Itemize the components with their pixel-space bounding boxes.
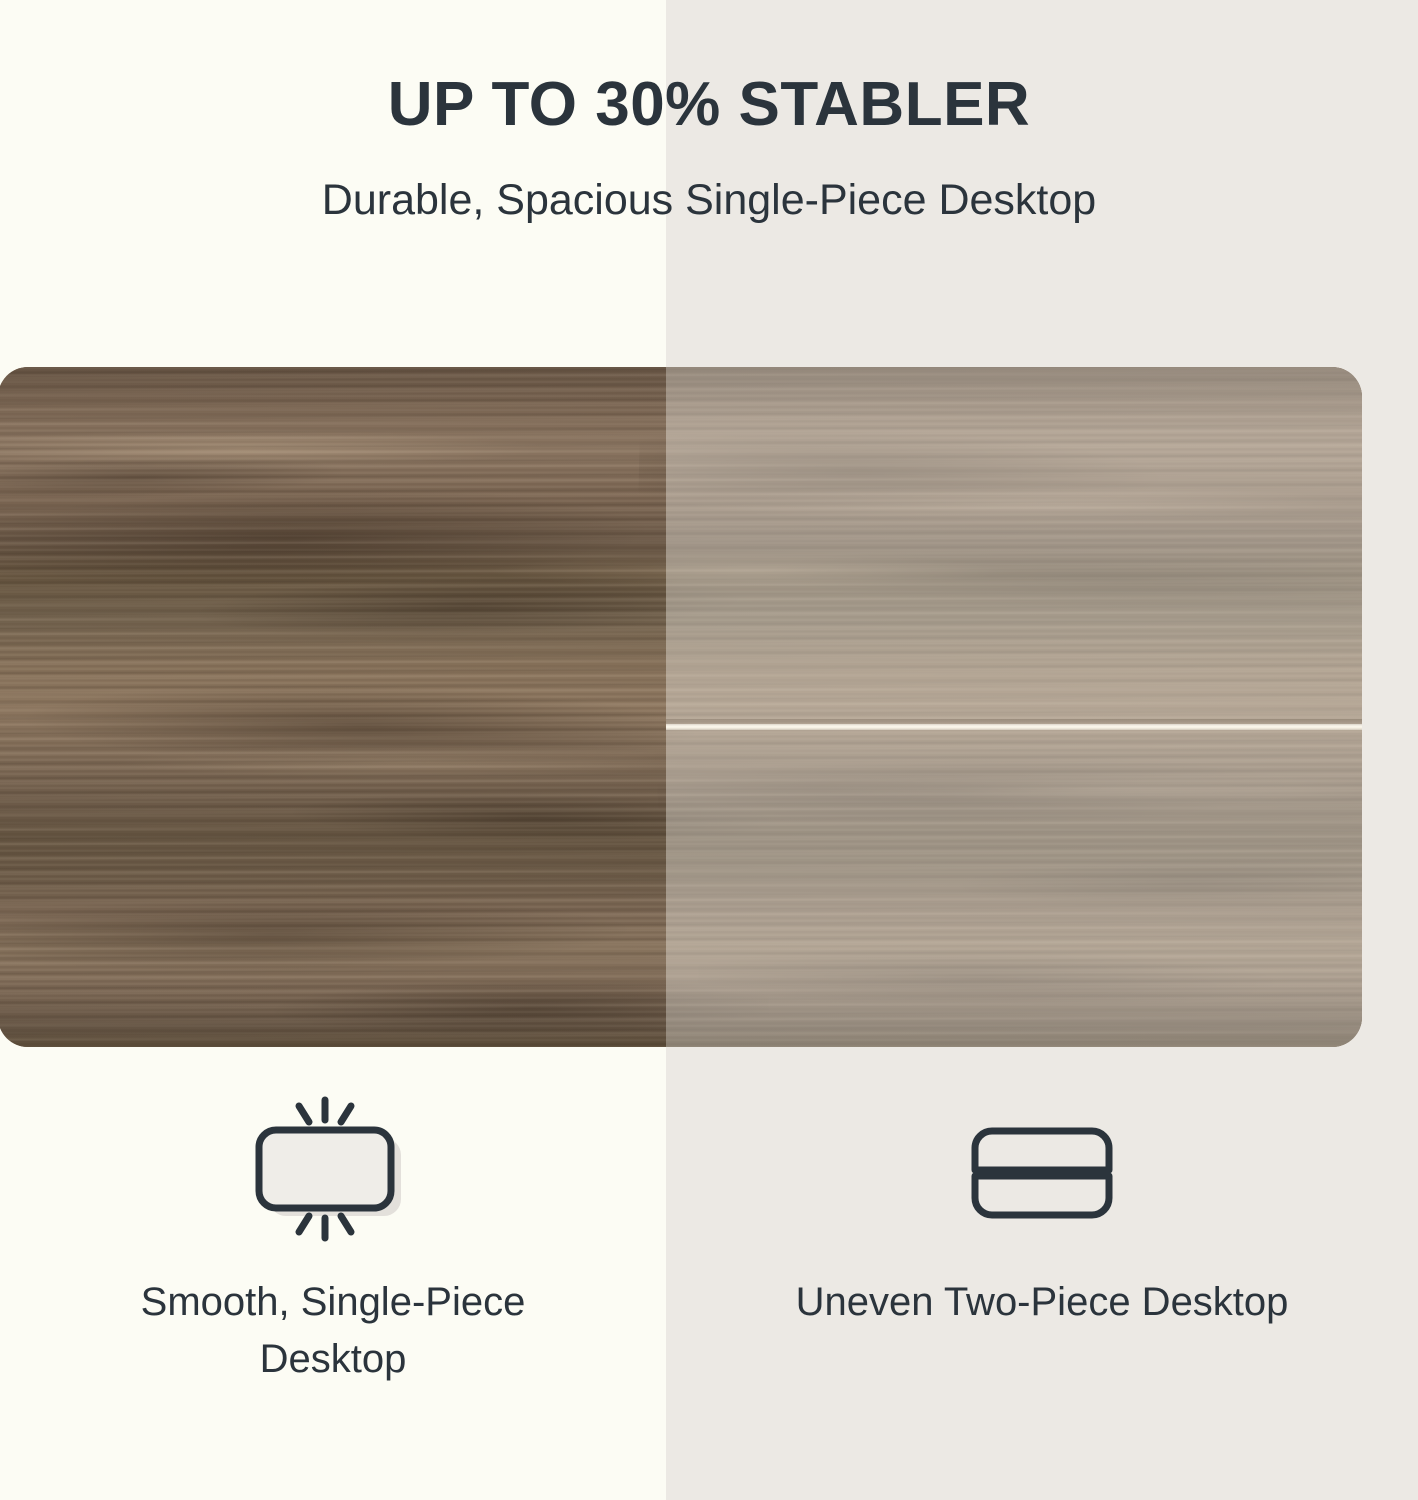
comparison-caption-left: Smooth, Single-Piece Desktop: [0, 1274, 666, 1388]
smooth-single-panel-icon: [0, 1085, 666, 1260]
desktop-comparison-photo: [0, 367, 1362, 1047]
split-two-panel-icon: [666, 1085, 1418, 1260]
page-subtitle: Durable, Spacious Single-Piece Desktop: [0, 176, 1418, 225]
comparison-caption-right: Uneven Two-Piece Desktop: [666, 1274, 1418, 1331]
comparison-column-right: Uneven Two-Piece Desktop: [666, 1085, 1418, 1331]
promo-graphic: UP TO 30% STABLER Durable, Spacious Sing…: [0, 0, 1418, 1500]
comparison-column-left: Smooth, Single-Piece Desktop: [0, 1085, 666, 1388]
right-half-overlay: [666, 367, 1362, 1047]
desktop-seam-line: [666, 724, 1362, 730]
smooth-single-panel-icon-svg: [233, 1088, 433, 1258]
page-title: UP TO 30% STABLER: [0, 72, 1418, 137]
split-two-panel-icon-svg: [942, 1088, 1142, 1258]
